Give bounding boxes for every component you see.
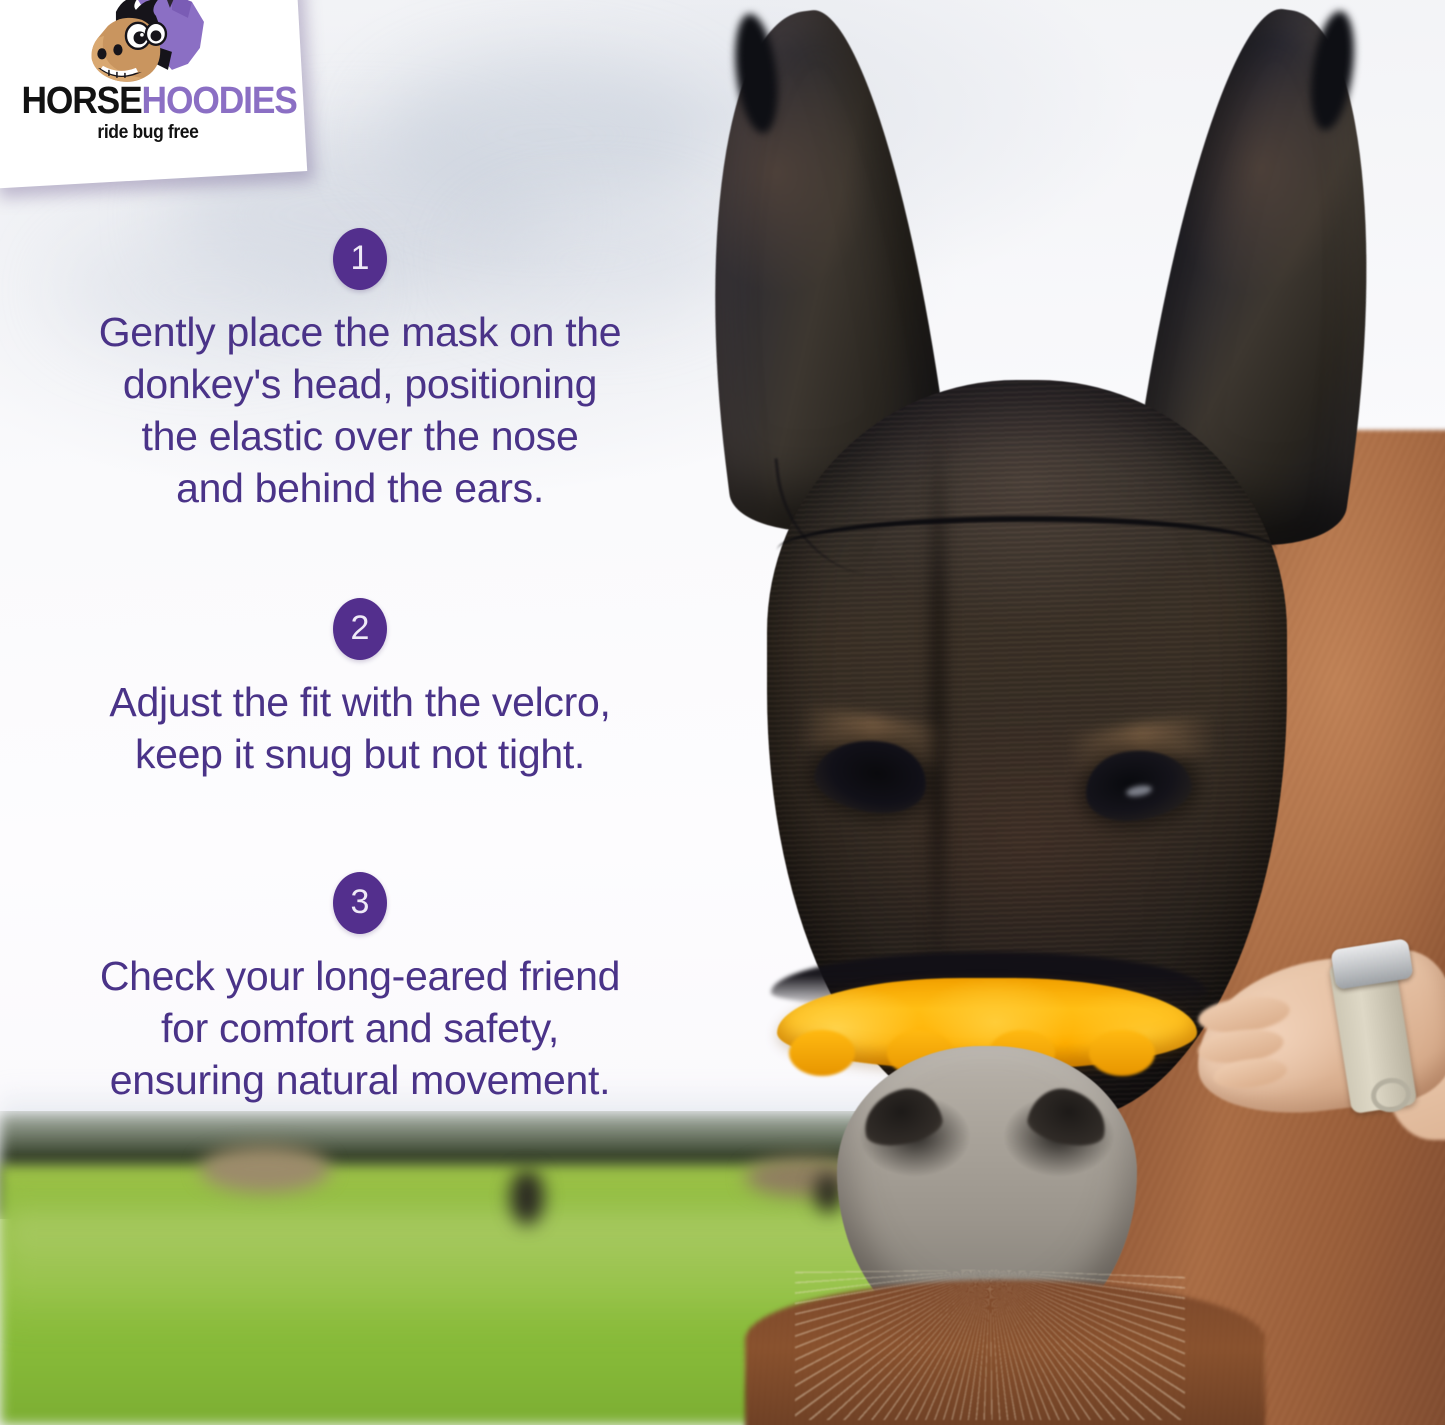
ear-tip xyxy=(1304,8,1360,132)
logo-wordmark: HORSEHOODIES xyxy=(21,82,274,120)
step-3-text: Check your long-eared friend for comfort… xyxy=(0,950,720,1106)
right-nostril xyxy=(1024,1082,1112,1151)
muzzle-whiskers xyxy=(795,1270,1185,1420)
step-2-number-badge: 2 xyxy=(333,598,387,660)
step-2-text: Adjust the fit with the velcro, keep it … xyxy=(0,676,720,780)
step-1: 1 Gently place the mask on the donkey's … xyxy=(0,228,720,514)
ear-tip xyxy=(729,12,783,136)
brand-logo: HORSEHOODIES ride bug free xyxy=(12,6,282,156)
infographic-canvas: HORSEHOODIES ride bug free 1 Gently plac… xyxy=(0,0,1445,1425)
left-nostril xyxy=(858,1082,946,1151)
logo-word-hoodies: HOODIES xyxy=(142,80,297,122)
instruction-steps: 1 Gently place the mask on the donkey's … xyxy=(0,0,720,1425)
step-1-number-badge: 1 xyxy=(333,228,387,290)
step-2: 2 Adjust the fit with the velcro, keep i… xyxy=(0,598,720,780)
nose-ridge-shadow xyxy=(930,420,946,980)
brand-logo-card[interactable]: HORSEHOODIES ride bug free xyxy=(0,0,307,189)
eye-glint xyxy=(1125,784,1152,798)
logo-word-horse: HORSE xyxy=(21,80,141,122)
logo-tagline: ride bug free xyxy=(23,122,273,144)
cartoon-horse-head-icon xyxy=(76,0,216,88)
step-3: 3 Check your long-eared friend for comfo… xyxy=(0,872,720,1106)
fleece-scallop xyxy=(1089,1030,1155,1076)
step-3-number-badge: 3 xyxy=(333,872,387,934)
donkey-photo-subject xyxy=(685,0,1445,1425)
step-1-text: Gently place the mask on the donkey's he… xyxy=(0,306,720,514)
fleece-scallop xyxy=(789,1030,855,1076)
